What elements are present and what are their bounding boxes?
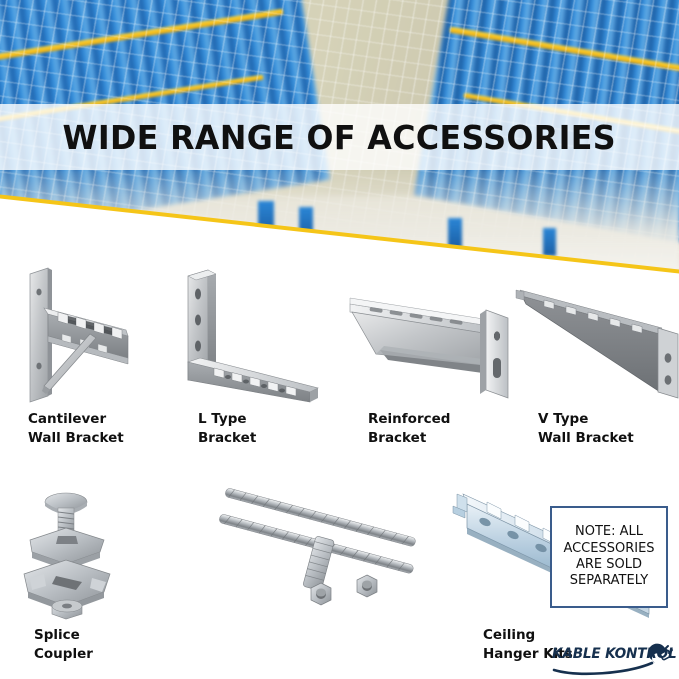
product-reinforced-bracket[interactable]: Reinforced Bracket [340,262,510,448]
brand-name: KABLE KONTROL [552,646,677,662]
product-cantilever-wall-bracket[interactable]: Cantilever Wall Bracket [0,262,170,448]
note-text: NOTE: ALL ACCESSORIES ARE SOLD SEPARATEL… [563,524,654,590]
v-type-bracket-image [510,262,679,402]
product-row-1: Cantilever Wall Bracket [0,262,679,448]
cantilever-bracket-image [0,262,170,402]
reinforced-bracket-image [340,262,510,402]
product-label: V Type Wall Bracket [510,410,634,448]
product-label: L Type Bracket [170,410,256,448]
note-box: NOTE: ALL ACCESSORIES ARE SOLD SEPARATEL… [550,506,668,608]
product-label: Reinforced Bracket [340,410,450,448]
product-l-type-bracket[interactable]: L Type Bracket [170,262,340,448]
splice-coupler-image [0,478,225,618]
product-splice-coupler[interactable]: Splice Coupler [0,478,225,664]
brand-logo[interactable]: KABLE KONTROL [552,644,674,676]
product-label: Splice Coupler [0,626,93,664]
l-type-bracket-image [170,262,340,402]
product-threaded-rods[interactable] [225,478,450,664]
product-label: Cantilever Wall Bracket [0,410,124,448]
page-title: WIDE RANGE OF ACCESSORIES [63,118,616,157]
threaded-rod-image [225,478,450,618]
infographic-page: WIDE RANGE OF ACCESSORIES [0,0,679,679]
product-v-type-wall-bracket[interactable]: V Type Wall Bracket [510,262,679,448]
